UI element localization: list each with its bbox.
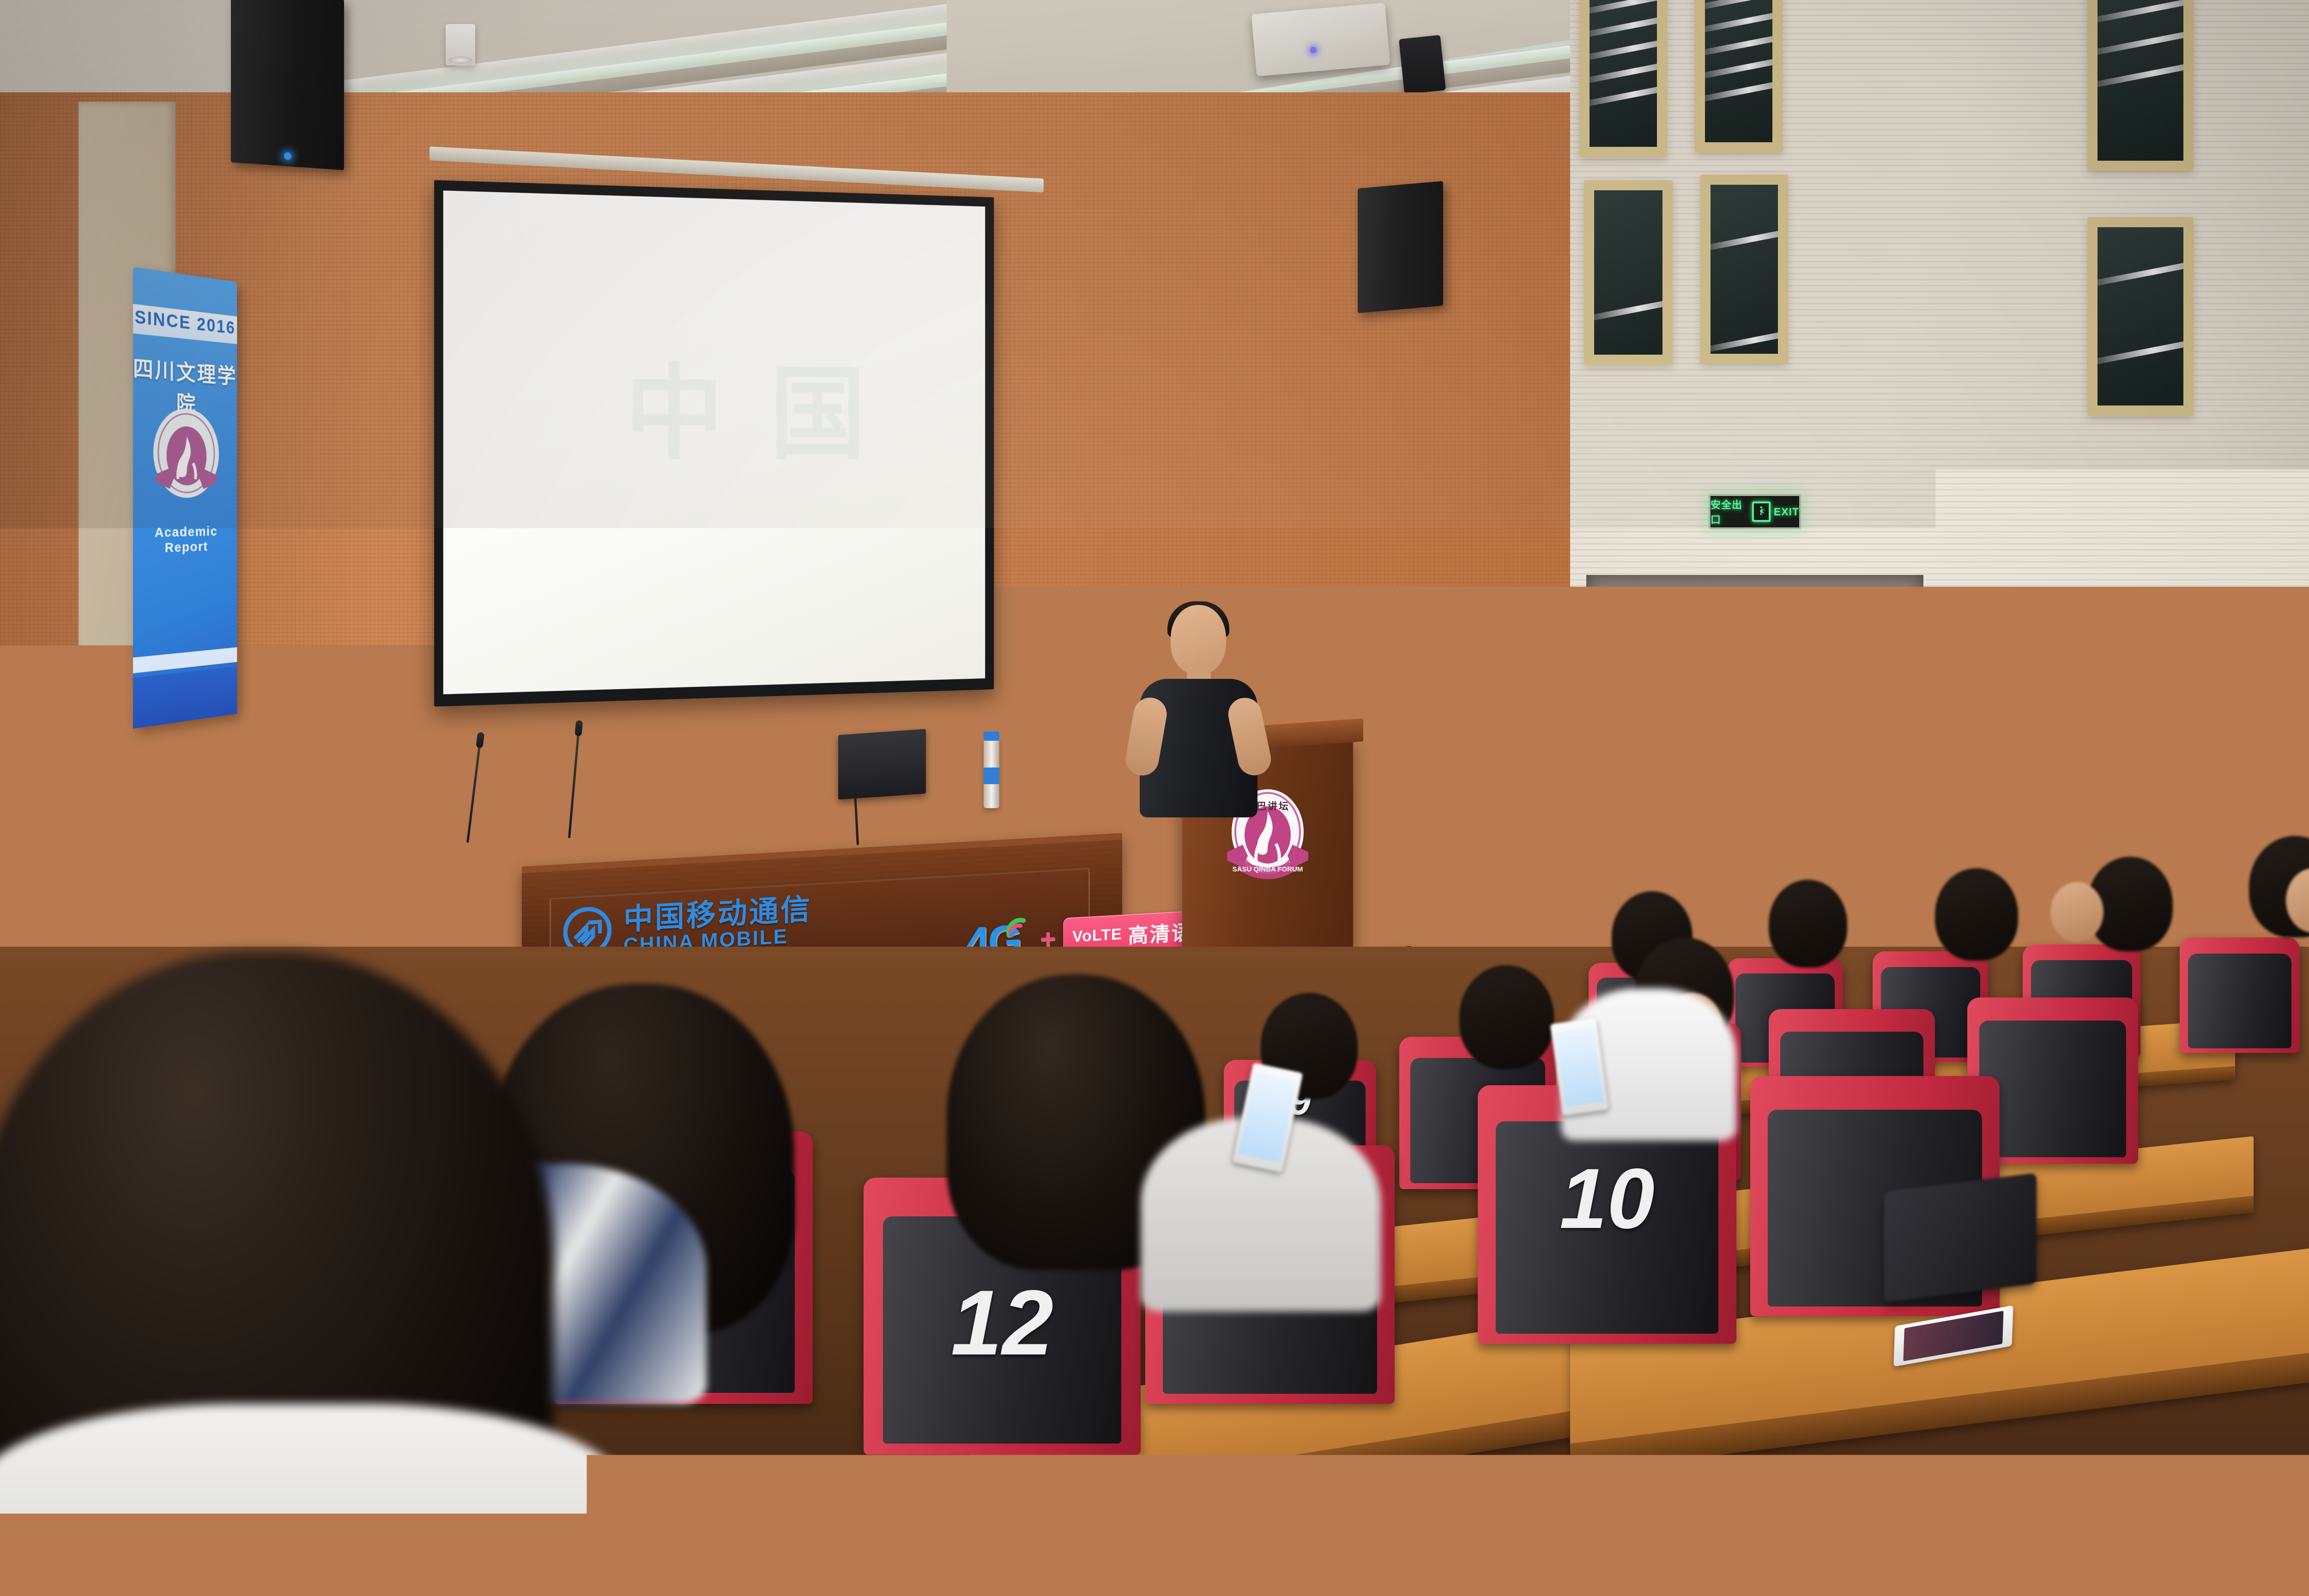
auditorium-photo: 中 国 SINCE 2016 四川文理学院 Academic Report (0, 0, 2309, 1596)
door-handle-left[interactable] (1614, 750, 1621, 866)
window-mid-right (1700, 175, 1788, 364)
presenter (1127, 605, 1265, 817)
projection-screen[interactable]: 中 国 (434, 180, 994, 707)
seat-number: 12 (864, 1270, 1141, 1376)
window-top-left (1579, 0, 1667, 157)
window-mid-left (1584, 180, 1673, 365)
audience-seat[interactable] (2180, 937, 2300, 1053)
audience-head (1769, 880, 1847, 967)
audience-head (1459, 965, 1554, 1069)
running-man-icon (1752, 502, 1771, 522)
downlight-icon (446, 24, 475, 66)
door-handle[interactable] (1749, 751, 1756, 867)
audience-face (2050, 882, 2103, 942)
signal-arc-icon (1002, 911, 1033, 946)
emergency-exit-sign: 安全出口 EXIT (1709, 494, 1801, 529)
window-far-top (2087, 0, 2194, 171)
rollup-banner: SINCE 2016 四川文理学院 Academic Report (133, 267, 237, 729)
banner-caption: Academic Report (133, 524, 237, 557)
qinba-ribbon-text: SASU QINBA FORUM (1233, 865, 1303, 873)
door-mullion (1737, 589, 1741, 979)
foreground-shirt-left (0, 1404, 628, 1596)
university-emblem-icon (146, 402, 226, 512)
audience-head (1935, 868, 2018, 961)
water-bottle (984, 739, 999, 808)
projector-power-led (1310, 47, 1317, 54)
ceiling-projector (1251, 3, 1390, 77)
laptop[interactable] (838, 729, 926, 799)
wall-speaker-right (1358, 181, 1443, 313)
foreground-face-right (2000, 1210, 2194, 1533)
speaker-power-led (284, 152, 291, 160)
presenter-head (1171, 605, 1226, 674)
window-top-right (1695, 0, 1783, 152)
seat-number: 10 (1478, 1150, 1736, 1248)
wall-speaker-left (231, 0, 344, 170)
exit-sign-chinese-label: 安全出口 (1711, 497, 1749, 526)
volte-english-label: VoLTE (1072, 925, 1122, 946)
stage-spotlight (1399, 35, 1446, 95)
exit-sign-english-label: EXIT (1774, 506, 1799, 518)
window-far-bottom (2087, 217, 2194, 416)
screen-faint-text: 中 国 (624, 329, 875, 479)
screen-surface: 中 国 (443, 191, 985, 695)
